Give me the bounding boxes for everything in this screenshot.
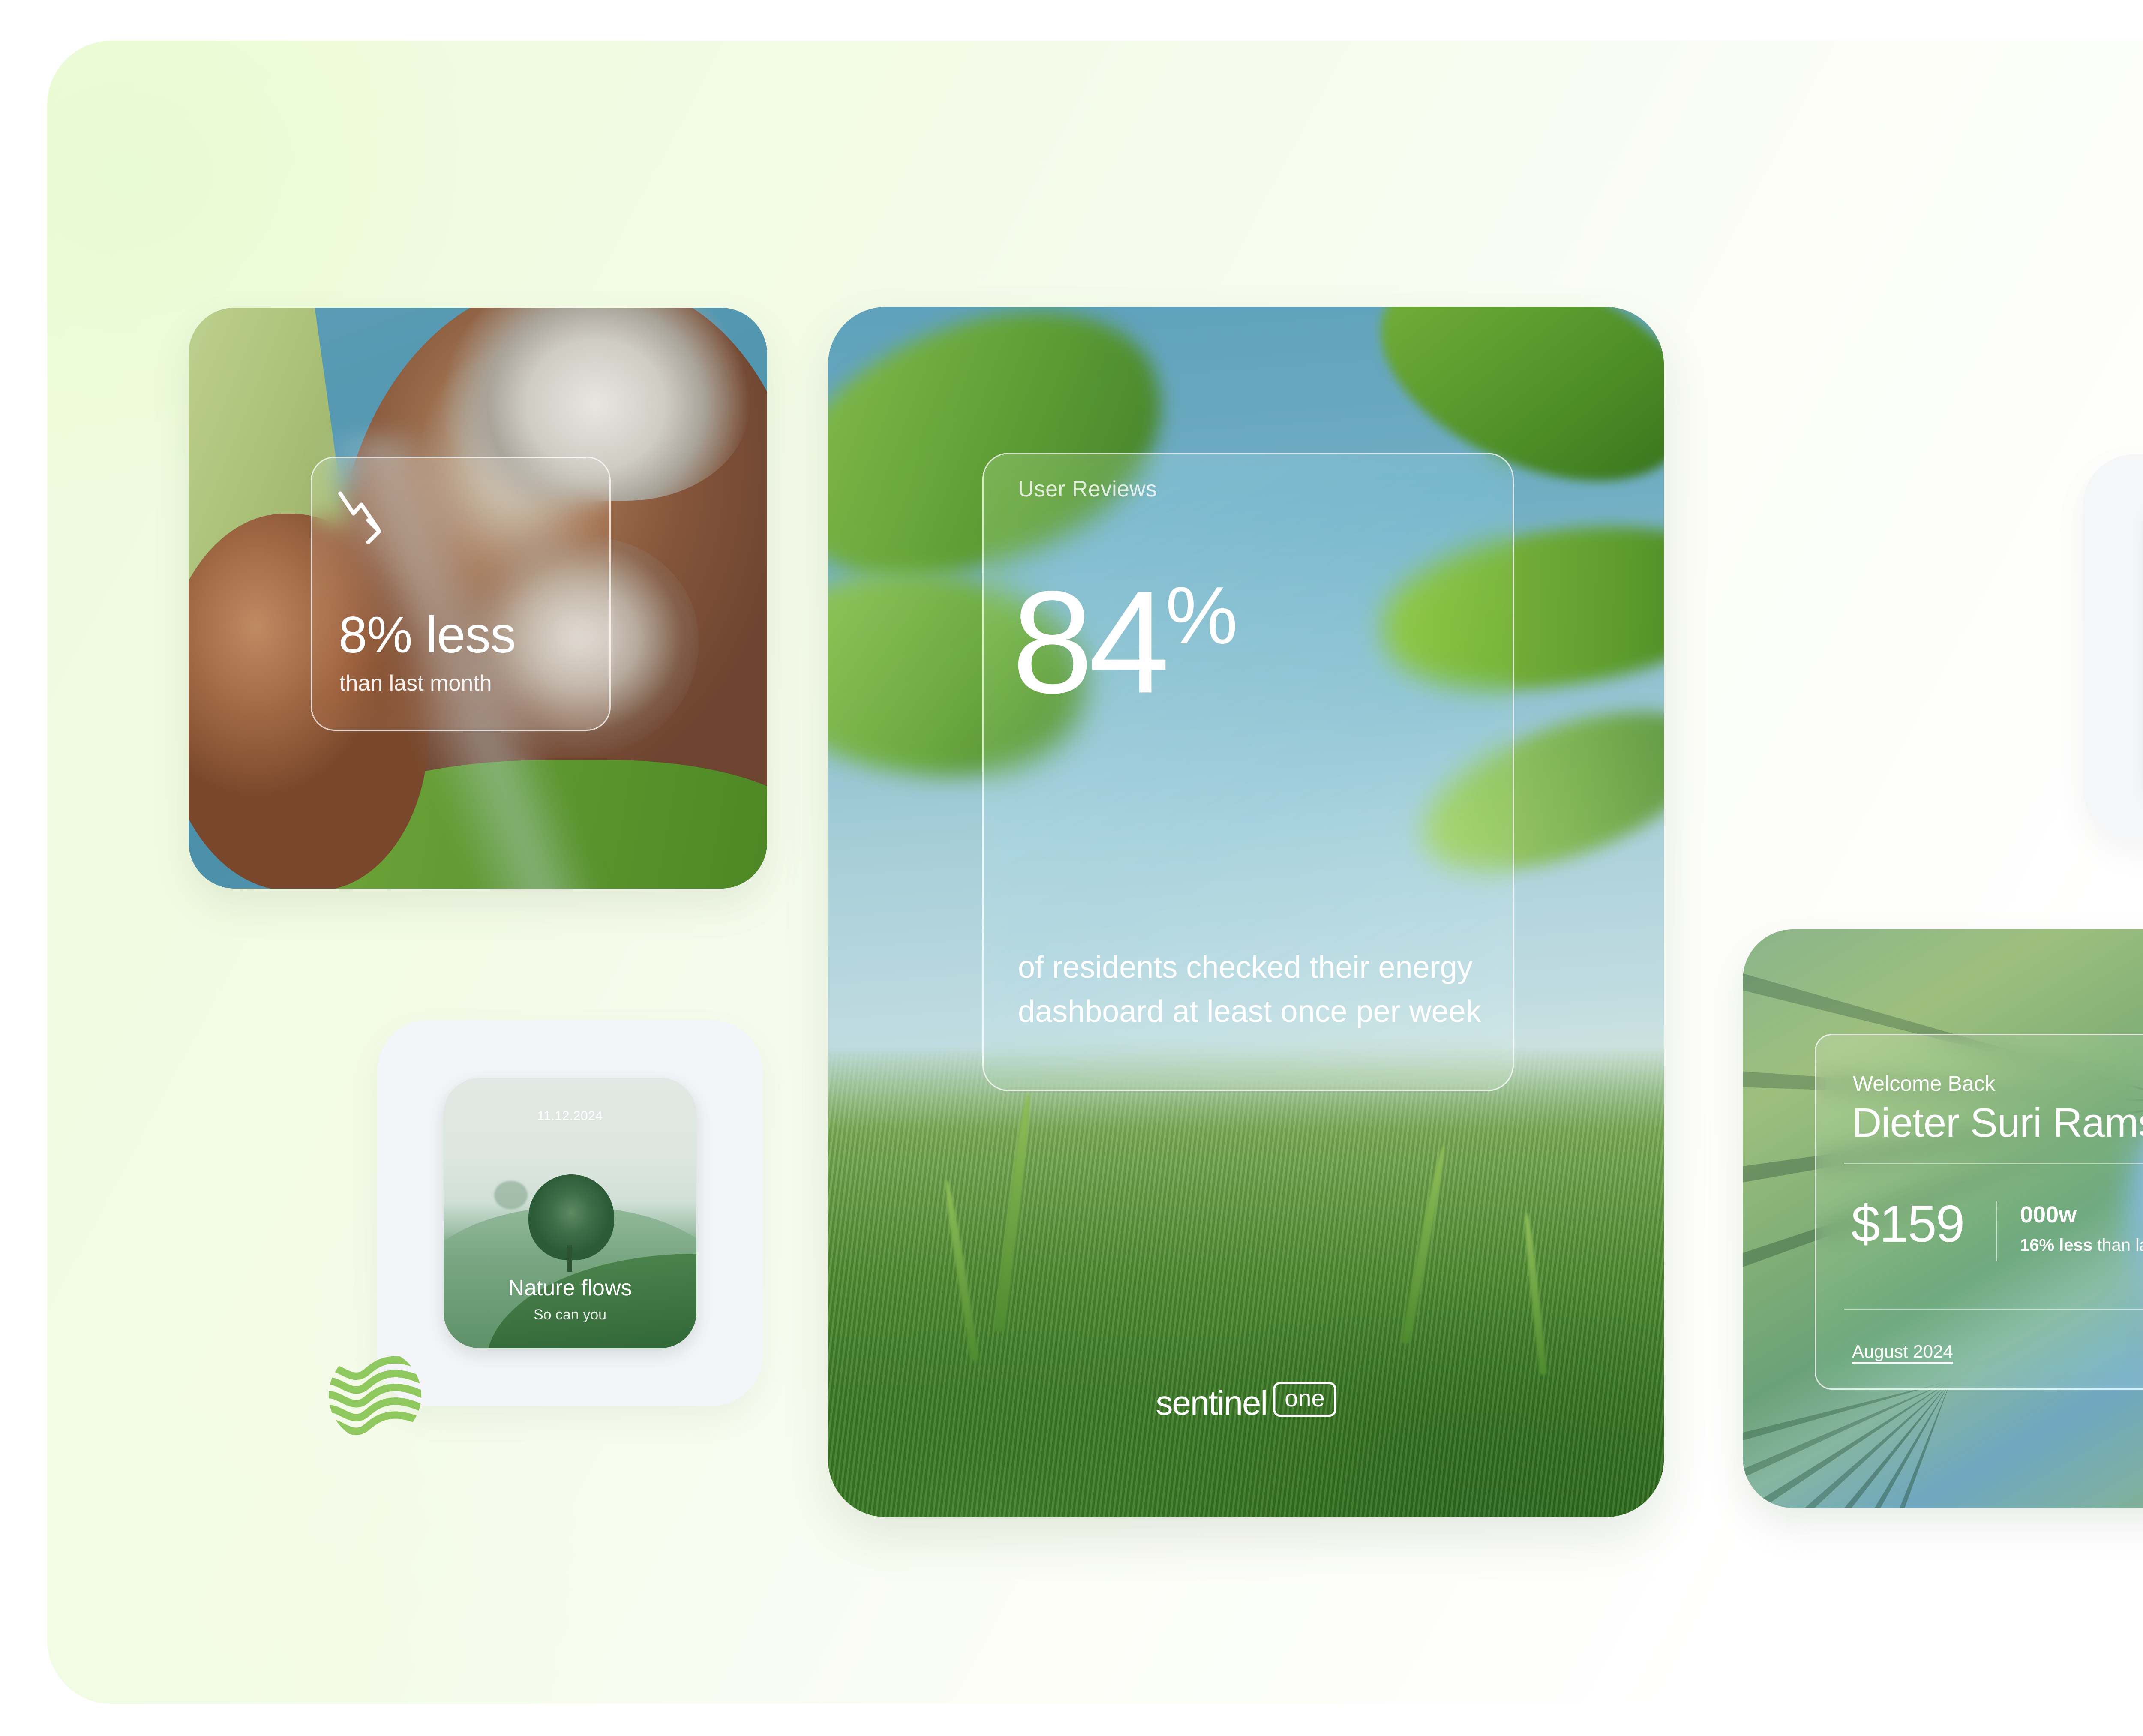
logo-chip: one: [1273, 1382, 1336, 1417]
greeting-label: Welcome Back: [1853, 1071, 1996, 1096]
account-glass-panel: Welcome Back Dieter Suri Rams $159 000w …: [1815, 1034, 2143, 1390]
nature-subtitle: So can you: [444, 1307, 696, 1323]
nature-title: Nature flows: [444, 1275, 696, 1301]
divider-vertical: [1996, 1201, 1997, 1261]
tile-member-marline[interactable]: Marline Bettye Connecting @user291057 23…: [2083, 454, 2143, 840]
account-month: August 2024: [1852, 1341, 1953, 1362]
composition-canvas: 8% less than last month User Reviews 84%…: [0, 0, 2143, 1736]
account-user-name: Dieter Suri Rams: [1852, 1099, 2143, 1147]
consumption-stat: 8% less: [339, 605, 516, 664]
account-delta-strong: 16% less: [2020, 1236, 2092, 1255]
sentinel-one-logo: sentinel one: [1156, 1382, 1336, 1423]
account-amount: $159: [1851, 1194, 1964, 1254]
card-energy-consumption[interactable]: 8% less than last month: [189, 308, 767, 889]
trend-down-arrow-icon: [337, 488, 393, 544]
hero-glass-panel: User Reviews 84% of residents checked th…: [982, 453, 1514, 1091]
wave-circle-logo-icon: [326, 1346, 424, 1445]
hero-section-label: User Reviews: [1018, 476, 1157, 502]
card-hero-user-reviews[interactable]: User Reviews 84% of residents checked th…: [828, 307, 1664, 1517]
account-watts: 000w: [2020, 1201, 2077, 1228]
hero-stat-value: 84%: [1012, 583, 1236, 702]
account-delta: 16% less than last month: [2020, 1236, 2143, 1255]
tile-nature-flows[interactable]: 11.12.2024 Nature flows So can you: [377, 1020, 763, 1406]
divider-top: [1844, 1163, 2143, 1164]
account-delta-rest: than last month: [2092, 1236, 2143, 1255]
consumption-stat-subtitle: than last month: [339, 670, 492, 696]
hero-stat-description: of residents checked their energy dashbo…: [1018, 946, 1513, 1034]
divider-bottom: [1844, 1309, 2143, 1310]
logo-wordmark: sentinel: [1156, 1383, 1267, 1423]
consumption-glass-panel: 8% less than last month: [311, 457, 611, 731]
nature-date: 11.12.2024: [444, 1109, 696, 1123]
nature-flows-thumbnail: 11.12.2024 Nature flows So can you: [444, 1078, 696, 1348]
card-account-summary[interactable]: Welcome Back Dieter Suri Rams $159 000w …: [1743, 929, 2143, 1508]
